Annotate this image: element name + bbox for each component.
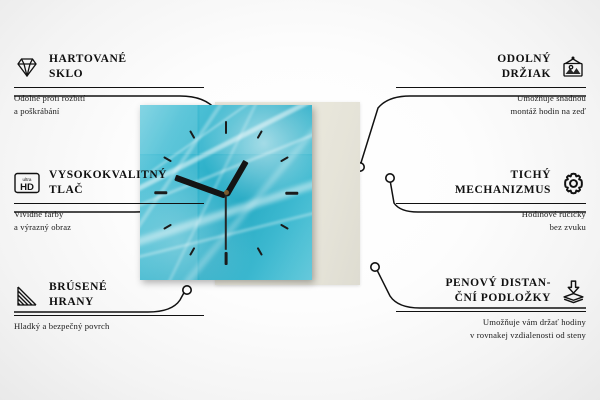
clock-center-cap — [224, 190, 229, 195]
ultra-hd-icon: ultra HD — [14, 171, 40, 195]
feature-divider — [396, 87, 586, 88]
feature-title: HARTOVANÉ SKLO — [49, 52, 127, 82]
feature-heading: ultra HD VYSOKOKVALITNÝ TLAČ — [14, 168, 204, 198]
feature-tempered-glass: HARTOVANÉ SKLO Odolné proti rozbití a po… — [14, 52, 204, 118]
feature-title: VYSOKOKVALITNÝ TLAČ — [49, 168, 167, 198]
second-hand — [225, 193, 227, 249]
hour-marker — [225, 252, 228, 265]
feature-foam-spacers: PENOVÝ DISTAN- ČNÍ PODLOŽKY Umožňuje vám… — [396, 276, 586, 342]
feature-divider — [14, 87, 204, 88]
feature-title: BRÚSENÉ HRANY — [49, 280, 107, 310]
feature-description: Vividné farby a výrazný obraz — [14, 208, 204, 233]
connector-marker-foam — [371, 263, 379, 271]
connector-marker-mech — [386, 174, 394, 182]
feature-divider — [396, 203, 586, 204]
feature-title: PENOVÝ DISTAN- ČNÍ PODLOŽKY — [445, 276, 551, 306]
feature-description: Hodinové ručičky bez zvuku — [396, 208, 586, 233]
feature-description: Umožňuje vám držať hodiny v rovnakej vzd… — [396, 316, 586, 341]
feature-title: ODOLNÝ DRŽIAK — [497, 52, 551, 82]
hour-marker — [285, 191, 298, 194]
diamond-icon — [14, 55, 40, 79]
feature-divider — [396, 311, 586, 312]
feature-divider — [14, 315, 204, 316]
feature-description: Odolné proti rozbití a poškrábání — [14, 92, 204, 117]
ultra-hd-icon-main: HD — [20, 182, 34, 193]
feature-heading: ODOLNÝ DRŽIAK — [396, 52, 586, 82]
feature-heading: PENOVÝ DISTAN- ČNÍ PODLOŽKY — [396, 276, 586, 306]
feature-description: Umožňuje snadnou montáž hodin na zeď — [396, 92, 586, 117]
feature-heading: TICHÝ MECHANIZMUS — [396, 168, 586, 198]
hour-marker — [225, 121, 228, 134]
beveled-edge-icon — [14, 283, 40, 307]
gear-icon — [560, 171, 586, 195]
picture-frame-icon — [560, 55, 586, 79]
feature-description: Hladký a bezpečný povrch — [14, 320, 204, 333]
feature-high-quality-print: ultra HD VYSOKOKVALITNÝ TLAČ Vividné far… — [14, 168, 204, 234]
feature-beveled-edges: BRÚSENÉ HRANY Hladký a bezpečný povrch — [14, 280, 204, 333]
feature-divider — [14, 203, 204, 204]
feature-silent-mechanism: TICHÝ MECHANIZMUS Hodinové ručičky bez z… — [396, 168, 586, 234]
foam-spacer-icon — [560, 279, 586, 303]
feature-durable-holder: ODOLNÝ DRŽIAK Umožňuje snadnou montáž ho… — [396, 52, 586, 118]
feature-title: TICHÝ MECHANIZMUS — [455, 168, 551, 198]
feature-heading: HARTOVANÉ SKLO — [14, 52, 204, 82]
feature-heading: BRÚSENÉ HRANY — [14, 280, 204, 310]
